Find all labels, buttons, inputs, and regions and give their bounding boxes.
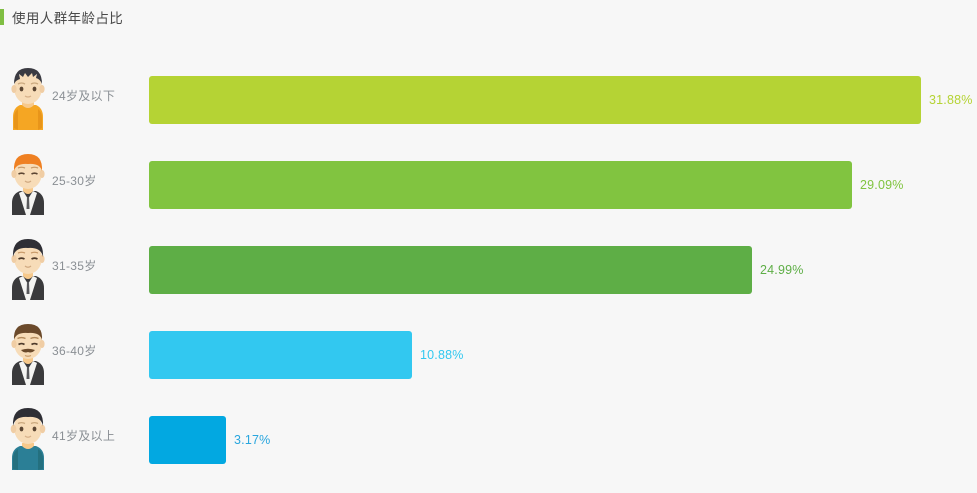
bar-segment[interactable] [149,161,852,209]
category-label: 41岁及以上 [52,393,115,478]
page-title-label: 使用人群年龄占比 [12,7,123,27]
bar-row[interactable]: 41岁及以上 3.17% [0,393,977,478]
avatar-mustache-suit [6,317,50,385]
bar-track: 10.88% [149,331,949,379]
bar-row[interactable]: 31-35岁 24.99% [0,223,977,308]
avatar-ginger-suit [6,147,50,215]
bar-row[interactable]: 25-30岁 29.09% [0,138,977,223]
bar-segment[interactable] [149,246,752,294]
bar-value-label: 24.99% [752,246,804,294]
avatar-teal-shirt [6,402,50,470]
bar-track: 31.88% [149,76,949,124]
bar-value-label: 3.17% [226,416,270,464]
avatar-black-hair-suit [6,232,50,300]
category-label: 31-35岁 [52,223,97,308]
category-label: 24岁及以下 [52,53,115,138]
title-accent-bar [0,9,4,25]
category-label: 25-30岁 [52,138,97,223]
bar-segment[interactable] [149,416,226,464]
bar-value-label: 10.88% [412,331,464,379]
bar-row[interactable]: 24岁及以下 31.88% [0,53,977,138]
bar-track: 24.99% [149,246,949,294]
category-label: 36-40岁 [52,308,97,393]
bar-track: 29.09% [149,161,949,209]
bar-segment[interactable] [149,331,412,379]
bar-chart: 24岁及以下 31.88% 25-30岁 [0,53,977,493]
bar-row[interactable]: 36-40岁 10.88% [0,308,977,393]
bar-track: 3.17% [149,416,949,464]
bar-value-label: 29.09% [852,161,904,209]
avatar-young-orange-shirt [6,62,50,130]
bar-value-label: 31.88% [921,76,973,124]
page-title: 使用人群年龄占比 [0,6,123,28]
bar-segment[interactable] [149,76,921,124]
